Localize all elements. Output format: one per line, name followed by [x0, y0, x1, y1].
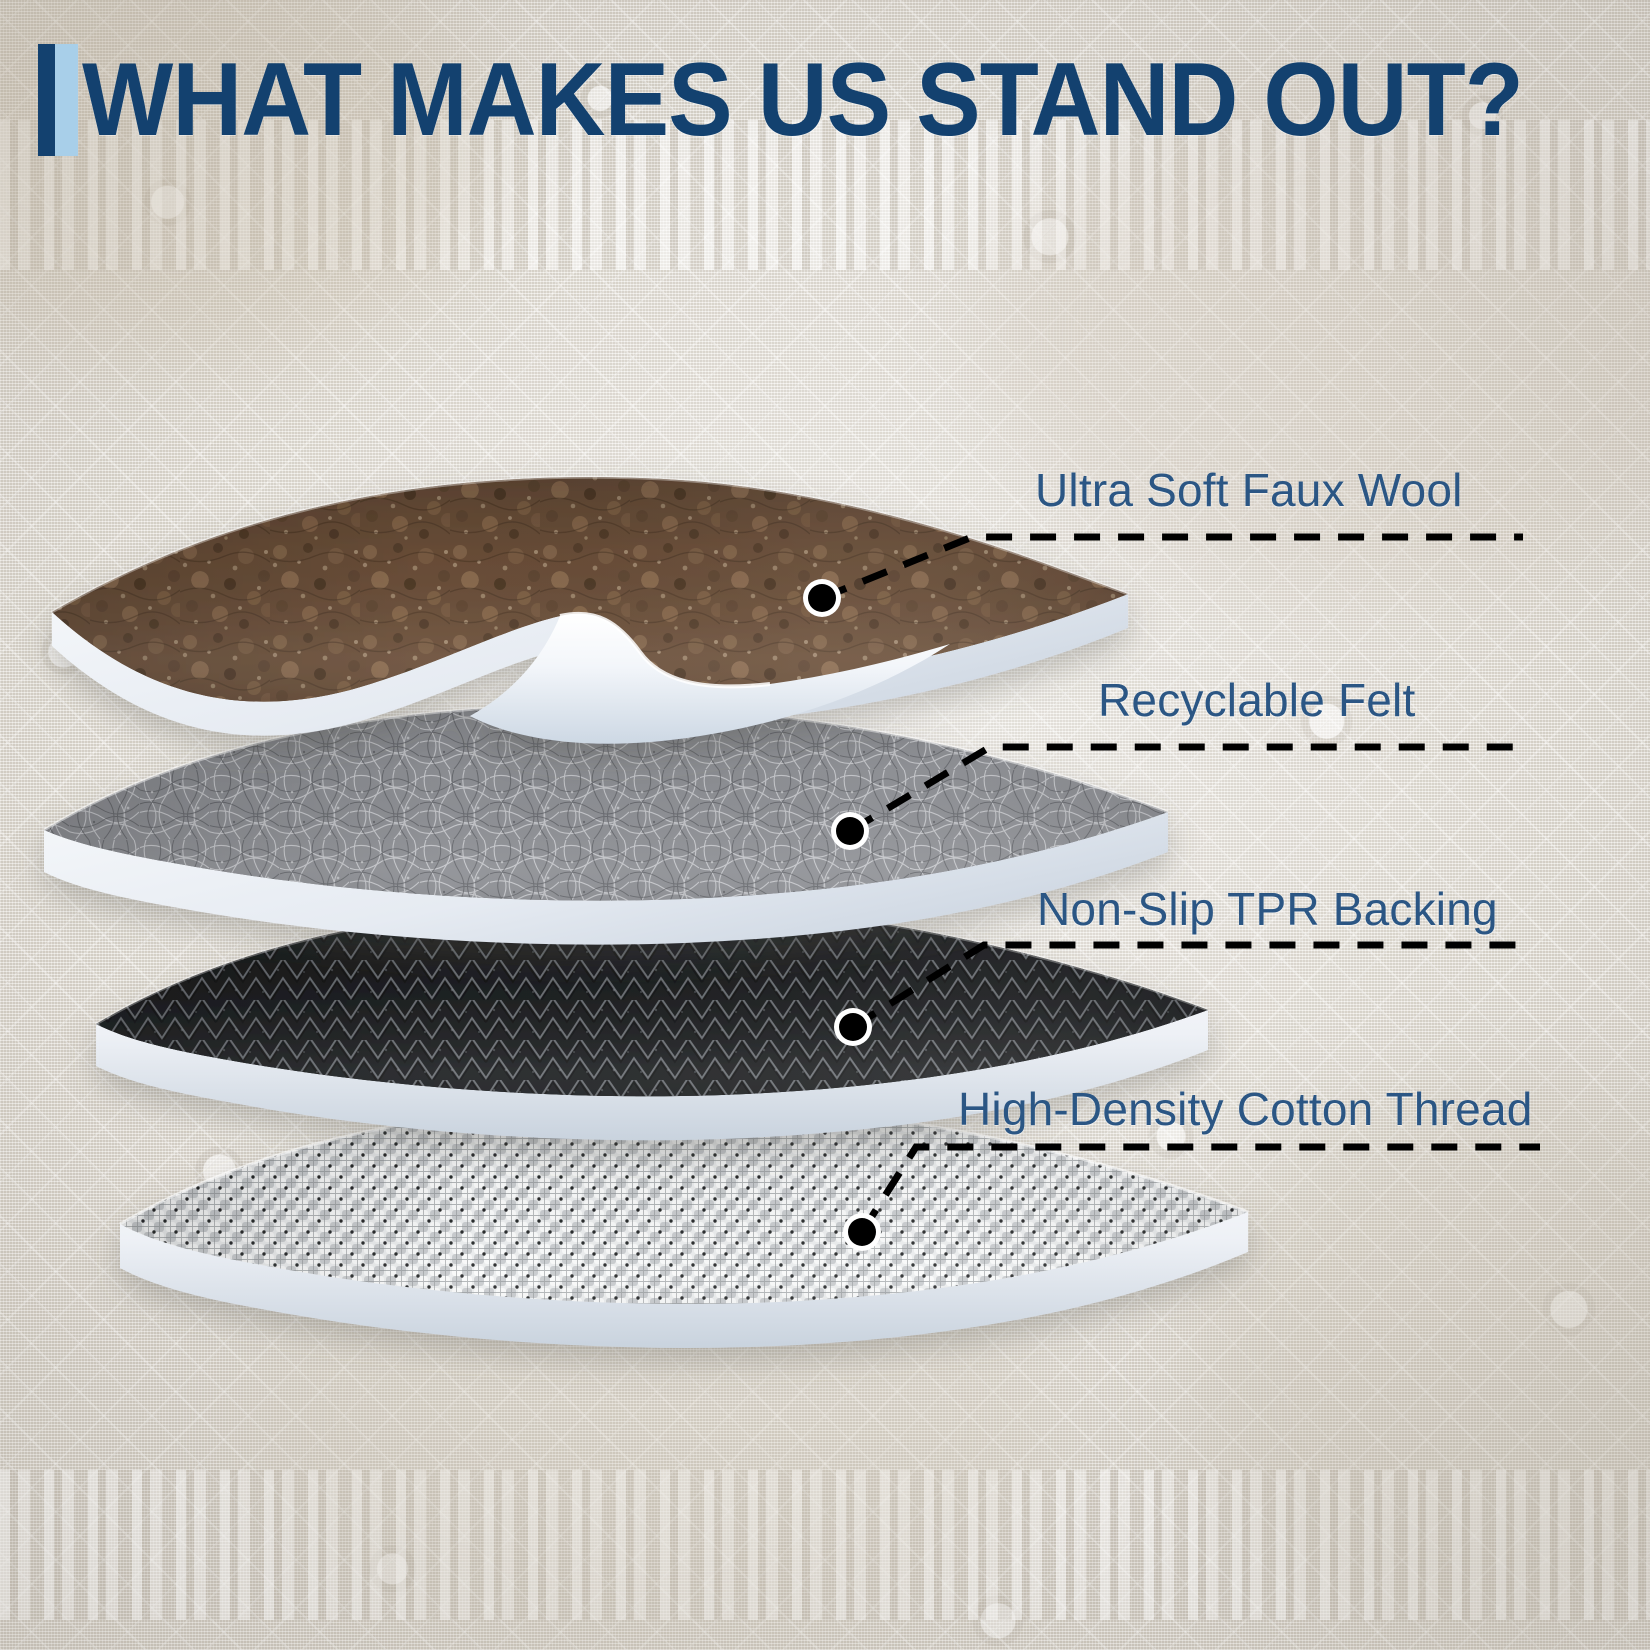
callout-dot-1	[808, 584, 836, 612]
callout-dot-4	[848, 1218, 876, 1246]
callout-label-high-density-cotton-thread: High-Density Cotton Thread	[958, 1081, 1533, 1137]
layer-sheet-faux-wool	[0, 440, 1200, 744]
layer-stack-diagram	[0, 0, 1650, 1650]
callout-dot-3	[839, 1013, 867, 1041]
infographic-canvas: WHAT MAKES US STAND OUT?	[0, 0, 1650, 1650]
callout-dot-2	[836, 817, 864, 845]
callout-label-recyclable-felt: Recyclable Felt	[1098, 672, 1415, 728]
callout-label-non-slip-tpr-backing: Non-Slip TPR Backing	[1037, 881, 1498, 937]
callout-label-ultra-soft-faux-wool: Ultra Soft Faux Wool	[1035, 462, 1463, 518]
